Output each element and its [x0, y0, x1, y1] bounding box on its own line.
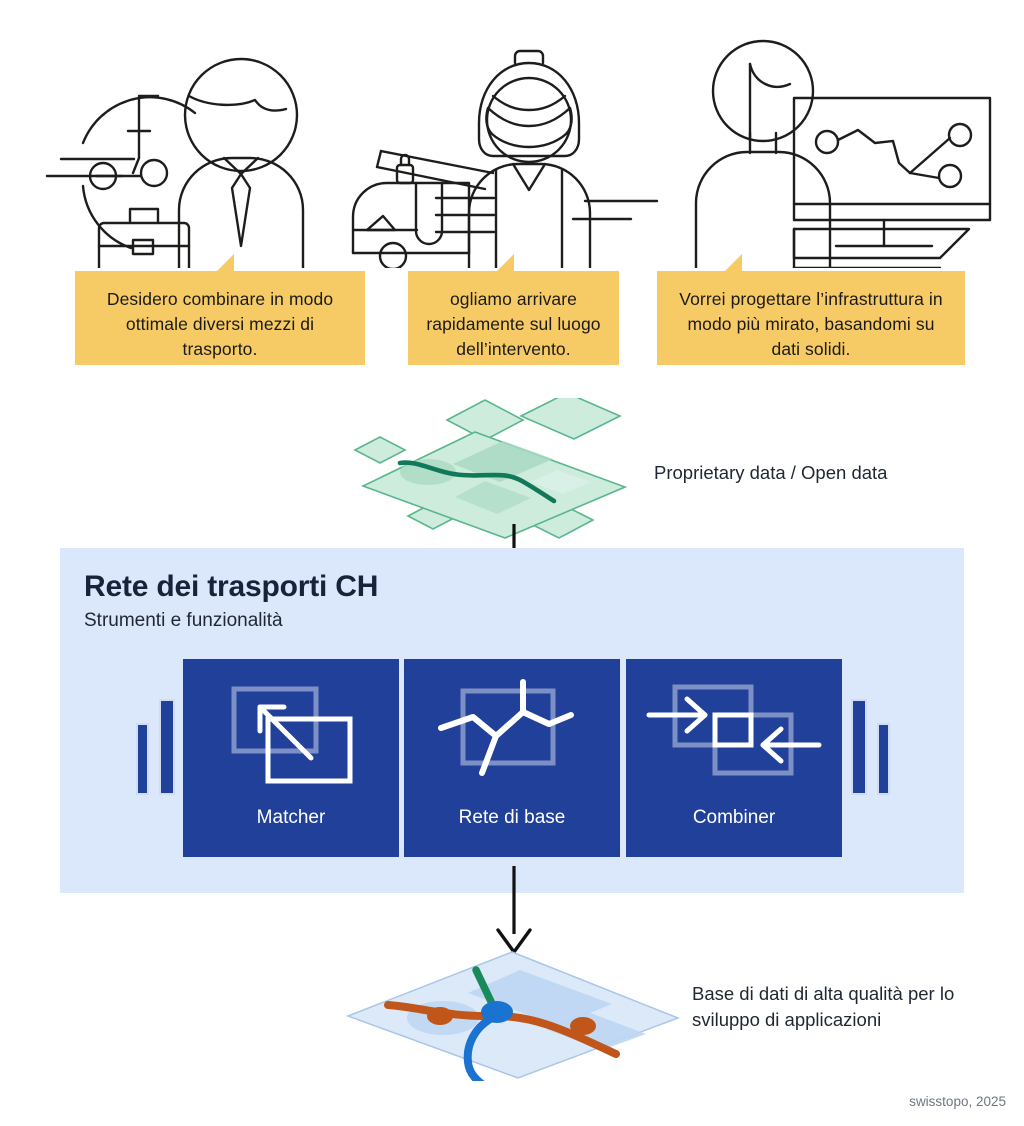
- infographic-canvas: Desidero combinare in modo ottimale dive…: [0, 0, 1024, 1126]
- decorative-bar: [851, 699, 867, 795]
- output-data-caption: Base di dati di alta qualità per lo svil…: [692, 981, 982, 1034]
- green-isometric-map-icon: [335, 398, 645, 540]
- decorative-bars-right: [851, 699, 890, 795]
- bubble-tail: [725, 254, 742, 271]
- speech-bubble-commuter: Desidero combinare in modo ottimale dive…: [75, 271, 365, 365]
- planner-monitor-icon: [688, 18, 1008, 268]
- tool-card-label: Matcher: [257, 807, 326, 829]
- tool-card-matcher[interactable]: Matcher: [183, 659, 399, 857]
- persona-illustration-planner: [688, 18, 1008, 268]
- persona-illustration-commuter: [38, 18, 358, 268]
- decorative-bar: [877, 723, 890, 795]
- overlapping-rectangles-arrow-icon: [196, 673, 386, 805]
- bubble-tail: [497, 254, 514, 271]
- decorative-bar: [159, 699, 175, 795]
- speech-bubble-planner: Vorrei progettare l’infrastruttura in mo…: [657, 271, 965, 365]
- tool-card-label: Rete di base: [459, 807, 566, 829]
- decorative-bar: [136, 723, 149, 795]
- tool-card-combiner[interactable]: Combiner: [626, 659, 842, 857]
- input-data-caption: Proprietary data / Open data: [654, 460, 954, 486]
- decorative-bars-left: [136, 699, 175, 795]
- tool-card-rete-di-base[interactable]: Rete di base: [404, 659, 620, 857]
- network-lines-square-icon: [417, 673, 607, 805]
- input-data-map: [335, 398, 645, 540]
- credit-label: swisstopo, 2025: [909, 1094, 1006, 1109]
- speech-bubble-firefighter: ogliamo arrivare rapidamente sul luogo d…: [408, 271, 619, 365]
- tool-card-label: Combiner: [693, 807, 775, 829]
- businessman-scooter-icon: [38, 18, 358, 268]
- speech-bubble-text: Desidero combinare in modo ottimale dive…: [107, 289, 333, 359]
- output-data-map: [340, 946, 685, 1081]
- blue-isometric-map-icon: [340, 946, 685, 1081]
- merge-arrows-square-icon: [639, 673, 829, 805]
- arrow-down-icon: [488, 866, 540, 954]
- flow-arrow-down-output: [488, 866, 540, 954]
- speech-bubble-text: ogliamo arrivare rapidamente sul luogo d…: [426, 289, 600, 359]
- page-subtitle: Strumenti e funzionalità: [84, 610, 283, 632]
- page-title: Rete dei trasporti CH: [84, 570, 378, 604]
- persona-illustration-firefighter: [345, 18, 665, 268]
- bubble-tail: [217, 254, 234, 271]
- firefighter-truck-icon: [345, 18, 665, 268]
- speech-bubble-text: Vorrei progettare l’infrastruttura in mo…: [679, 289, 942, 359]
